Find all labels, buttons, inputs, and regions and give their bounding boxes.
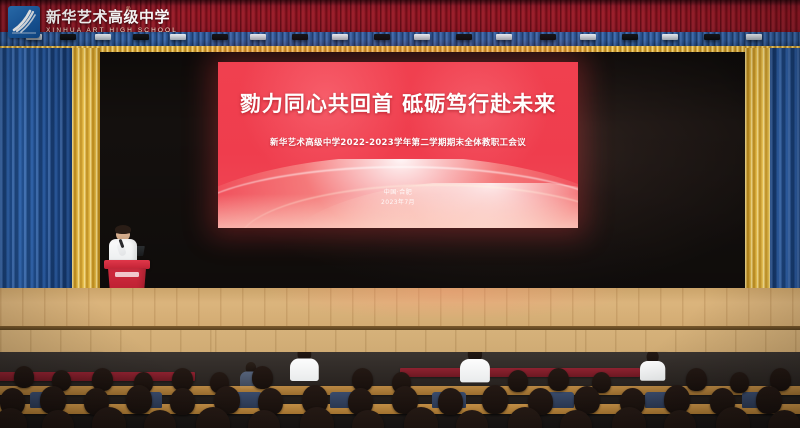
stage-spotlight xyxy=(332,34,348,40)
slide-subtitle: 新华艺术高级中学2022-2023学年第二学期期末全体教职工会议 xyxy=(218,136,578,148)
audience-head xyxy=(170,388,195,415)
presenter-hair xyxy=(115,225,131,234)
school-name-cn: 新华艺术高级中学 xyxy=(46,10,178,25)
stage-spotlight xyxy=(746,34,762,40)
stage-spotlight xyxy=(662,34,678,40)
left-blue-curtain xyxy=(0,48,74,298)
audience-head xyxy=(730,372,749,393)
stage-spotlight xyxy=(456,34,472,40)
school-watermark-text: 新华艺术高级中学 XINHUA ART HIGH SCHOOL xyxy=(46,10,178,35)
right-yellow-curtain xyxy=(745,48,773,298)
registered-mark: ® xyxy=(126,7,130,13)
stage-spotlight xyxy=(374,34,390,40)
auditorium-meeting-photo: 勠力同心共回首 砥砺笃行赴未来 新华艺术高级中学2022-2023学年第二学期期… xyxy=(0,0,800,428)
led-display-screen: 勠力同心共回首 砥砺笃行赴未来 新华艺术高级中学2022-2023学年第二学期期… xyxy=(218,62,578,228)
school-watermark: 新华艺术高级中学 XINHUA ART HIGH SCHOOL ® xyxy=(8,5,178,39)
school-name-en: XINHUA ART HIGH SCHOOL xyxy=(46,28,178,35)
podium-top xyxy=(104,260,150,269)
stage-spotlight xyxy=(414,34,430,40)
podium-school-logo-icon xyxy=(115,272,139,277)
stage-spotlight xyxy=(704,34,720,40)
audience-head xyxy=(14,366,34,388)
stage-spotlight xyxy=(292,34,308,40)
stage-spotlight xyxy=(250,34,266,40)
stage-spotlight xyxy=(580,34,596,40)
stage-spotlight xyxy=(212,34,228,40)
stage-spotlight xyxy=(540,34,556,40)
audience-head xyxy=(686,368,707,391)
audience-head xyxy=(252,366,273,389)
audience-head xyxy=(756,386,782,414)
stage-floor xyxy=(0,288,800,330)
school-swoosh-logo-icon xyxy=(8,6,40,38)
left-yellow-curtain xyxy=(72,48,100,298)
audience-head xyxy=(126,385,152,414)
audience-head xyxy=(548,368,569,391)
slide-location: 中国·合肥 xyxy=(218,187,578,196)
stage-spotlight xyxy=(496,34,512,40)
audience-area xyxy=(0,352,800,428)
audience-head xyxy=(482,385,508,414)
stage-spotlight xyxy=(622,34,638,40)
right-blue-curtain xyxy=(770,48,800,298)
audience-head xyxy=(508,370,528,392)
slide-title: 勠力同心共回首 砥砺笃行赴未来 xyxy=(218,88,578,118)
slide-date: 2023年7月 xyxy=(218,197,578,206)
audience-head xyxy=(438,388,463,415)
